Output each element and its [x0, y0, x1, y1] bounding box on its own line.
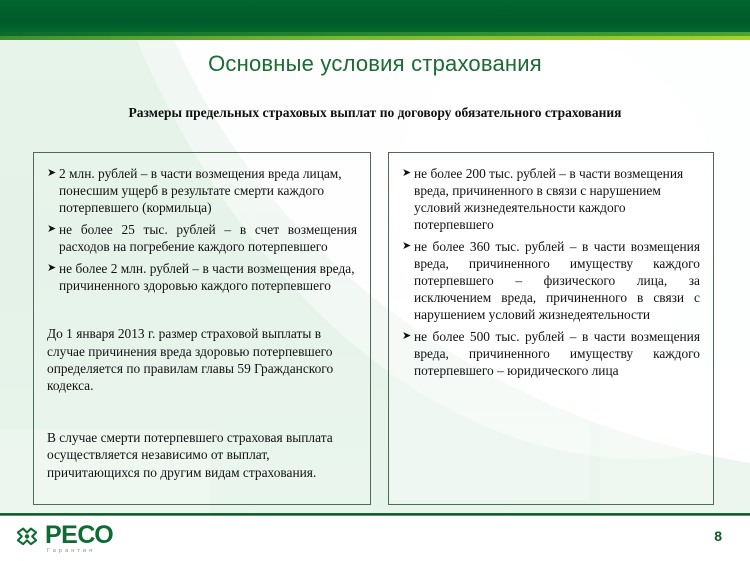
header-stripe-lime: [0, 36, 750, 40]
arrow-bullet-icon: ➤: [47, 165, 59, 181]
list-item: ➤ не более 500 тыс. рублей – в части воз…: [402, 328, 700, 379]
arrow-bullet-icon: ➤: [47, 221, 59, 237]
reso-diamond-icon: [14, 526, 40, 552]
left-content-box: ➤ 2 млн. рублей – в части возмещения вре…: [33, 152, 371, 505]
paragraph-deadline-note: До 1 января 2013 г. размер страховой вып…: [47, 325, 357, 395]
list-item: ➤ не более 25 тыс. рублей – в счет возме…: [47, 221, 357, 255]
arrow-bullet-icon: ➤: [402, 328, 414, 344]
list-item: ➤ не более 360 тыс. рублей – в части воз…: [402, 238, 700, 323]
list-item-label: 2 млн. рублей – в части возмещения вреда…: [59, 165, 357, 216]
company-logo: РЕСО Гарантия: [14, 523, 113, 555]
list-item: ➤ не более 2 млн. рублей – в части возме…: [47, 260, 357, 294]
list-item: ➤ не более 200 тыс. рублей – в части воз…: [402, 165, 700, 233]
list-item-label: не более 500 тыс. рублей – в части возме…: [414, 328, 700, 379]
logo-wordmark: РЕСО: [45, 523, 113, 548]
footer-divider: [0, 513, 750, 516]
right-content-box: ➤ не более 200 тыс. рублей – в части воз…: [388, 152, 714, 505]
list-item-label: не более 2 млн. рублей – в части возмеще…: [59, 260, 357, 294]
list-item: ➤ 2 млн. рублей – в части возмещения вре…: [47, 165, 357, 216]
list-item-label: не более 25 тыс. рублей – в счет возмеще…: [59, 221, 357, 255]
logo-text: РЕСО Гарантия: [45, 523, 113, 555]
page-title: Основные условия страхования: [0, 51, 750, 77]
paragraph-death-payout-note: В случае смерти потерпевшего страховая в…: [47, 429, 357, 481]
list-item-label: не более 200 тыс. рублей – в части возме…: [414, 165, 700, 233]
slide: Основные условия страхования Размеры пре…: [0, 0, 750, 561]
arrow-bullet-icon: ➤: [47, 260, 59, 276]
logo-tagline: Гарантия: [45, 549, 113, 555]
spacer: [47, 395, 357, 429]
list-item-label: не более 360 тыс. рублей – в части возме…: [414, 238, 700, 323]
arrow-bullet-icon: ➤: [402, 238, 414, 254]
header-band: [0, 0, 750, 32]
spacer: [47, 299, 357, 325]
arrow-bullet-icon: ➤: [402, 165, 414, 181]
slide-subtitle: Размеры предельных страховых выплат по д…: [0, 105, 750, 121]
page-number: 8: [714, 528, 722, 544]
